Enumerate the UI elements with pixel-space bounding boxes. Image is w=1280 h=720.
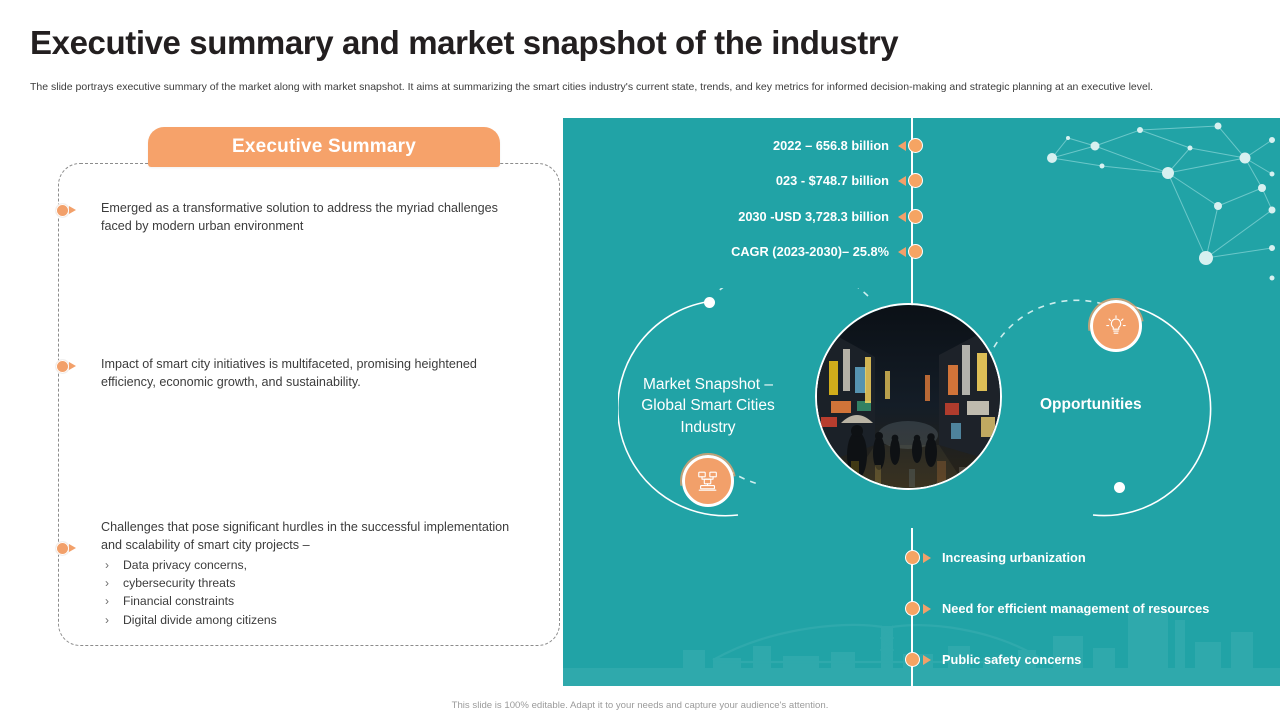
list-item-label: Impact of smart city initiatives is mult… xyxy=(101,356,521,392)
list-item: ›Digital divide among citizens xyxy=(101,611,525,629)
list-item-label: Increasing urbanization xyxy=(942,550,1086,565)
feature-arrow-icon xyxy=(923,553,931,563)
list-item-label: Financial constraints xyxy=(123,594,234,608)
chevron-right-icon: › xyxy=(105,574,109,592)
stat-row: 2030 -USD 3,728.3 billion xyxy=(663,209,923,224)
chevron-right-icon: › xyxy=(105,556,109,574)
arc-endpoint-dot xyxy=(1114,482,1125,493)
list-item: Need for efficient management of resourc… xyxy=(905,601,1209,616)
list-item-label: Challenges that pose significant hurdles… xyxy=(101,519,525,555)
feature-arrow-icon xyxy=(923,655,931,665)
stat-dot-icon xyxy=(908,138,923,153)
stat-arrow-icon xyxy=(898,212,906,222)
lightbulb-icon xyxy=(1090,300,1142,352)
stat-label: CAGR (2023-2030)– 25.8% xyxy=(731,244,889,259)
list-item: › Financial constraints xyxy=(101,592,525,610)
stat-dot-icon xyxy=(908,173,923,188)
list-item: ›cybersecurity threats xyxy=(101,574,525,592)
list-item-label: Data privacy concerns, xyxy=(123,558,247,572)
market-snapshot-label: Market Snapshot – Global Smart Cities In… xyxy=(632,374,784,438)
market-snapshot-panel: 2022 – 656.8 billion 023 - $748.7 billio… xyxy=(563,118,1280,686)
city-skyline-icon xyxy=(563,576,1280,686)
stat-row: 023 - $748.7 billion xyxy=(683,173,923,188)
list-item-label: Public safety concerns xyxy=(942,652,1081,667)
stat-dot-icon xyxy=(908,244,923,259)
challenges-sublist: ›Data privacy concerns, ›cybersecurity t… xyxy=(101,556,525,629)
feature-dot-icon xyxy=(905,652,920,667)
page-title: Executive summary and market snapshot of… xyxy=(30,25,1260,61)
list-item: Increasing urbanization xyxy=(905,550,1086,565)
bullet-arrow-icon xyxy=(55,203,81,217)
bullet-arrow-icon xyxy=(55,541,81,555)
list-item-label: Need for efficient management of resourc… xyxy=(942,601,1209,616)
feature-dot-icon xyxy=(905,550,920,565)
arc-endpoint-dot xyxy=(704,297,715,308)
bullet-arrow-icon xyxy=(55,359,81,373)
footer-note: This slide is 100% editable. Adapt it to… xyxy=(0,700,1280,711)
stat-label: 2030 -USD 3,728.3 billion xyxy=(738,209,889,224)
list-item: Challenges that pose significant hurdles… xyxy=(55,519,525,629)
stat-row: CAGR (2023-2030)– 25.8% xyxy=(663,244,923,259)
feature-arrow-icon xyxy=(923,604,931,614)
chevron-right-icon: › xyxy=(105,592,109,610)
city-photo xyxy=(815,303,1002,490)
opportunities-label: Opportunities xyxy=(1040,396,1200,414)
stat-arrow-icon xyxy=(898,247,906,257)
feature-dot-icon xyxy=(905,601,920,616)
list-item-label: cybersecurity threats xyxy=(123,576,235,590)
executive-summary-badge: Executive Summary xyxy=(148,127,500,167)
stat-arrow-icon xyxy=(898,176,906,186)
stat-dot-icon xyxy=(908,209,923,224)
list-item-label: Digital divide among citizens xyxy=(123,613,277,627)
slide-root: Executive summary and market snapshot of… xyxy=(0,0,1280,720)
list-item-label: Emerged as a transformative solution to … xyxy=(101,200,501,236)
chevron-right-icon: › xyxy=(105,611,109,629)
stat-label: 2022 – 656.8 billion xyxy=(773,138,889,153)
page-subtitle: The slide portrays executive summary of … xyxy=(30,80,1240,95)
list-item: ›Data privacy concerns, xyxy=(101,556,525,574)
smart-network-icon xyxy=(682,455,734,507)
stat-row: 2022 – 656.8 billion xyxy=(683,138,923,153)
list-item: Impact of smart city initiatives is mult… xyxy=(55,356,525,392)
list-item: Emerged as a transformative solution to … xyxy=(55,200,525,236)
stat-arrow-icon xyxy=(898,141,906,151)
list-item: Public safety concerns xyxy=(905,652,1081,667)
stat-label: 023 - $748.7 billion xyxy=(776,173,889,188)
